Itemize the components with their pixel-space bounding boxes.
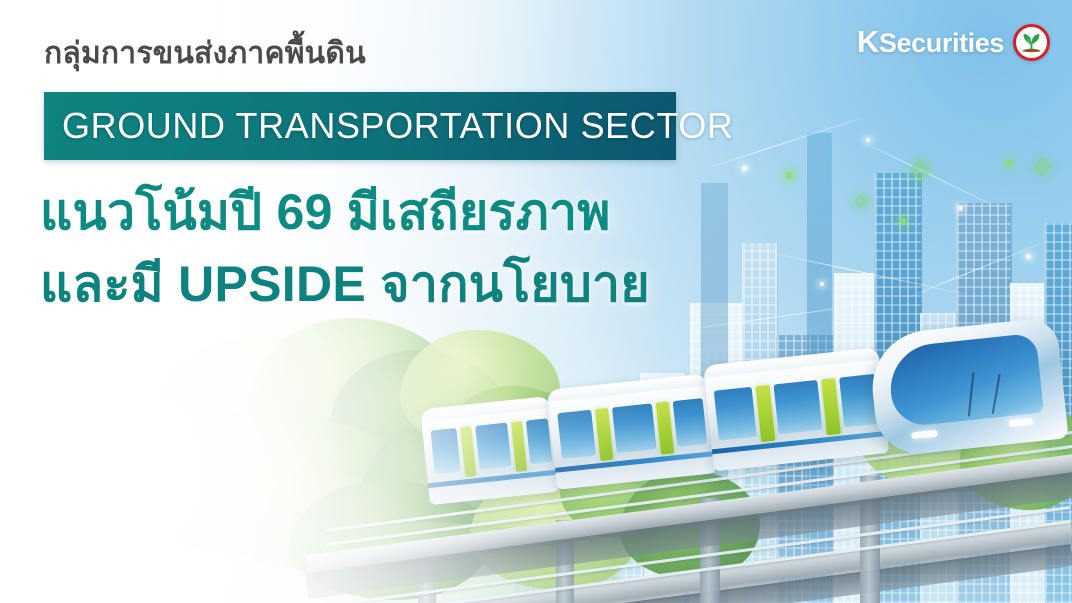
logo-word-rest: Securities — [879, 28, 1004, 58]
main-headline: แนวโน้มปี 69 มีเสถียรภาพ และมี UPSIDE จา… — [40, 176, 740, 320]
promo-banner: กลุ่มการขนส่งภาคพื้นดิน GROUND TRANSPORT… — [0, 0, 1072, 603]
train-nose — [867, 317, 1069, 458]
kicker-thai: กลุ่มการขนส่งภาคพื้นดิน — [44, 34, 704, 74]
ksecurities-logo: KSecurities — [857, 24, 1050, 61]
sector-label: GROUND TRANSPORTATION SECTOR — [44, 107, 734, 145]
seedling-icon — [1013, 24, 1050, 61]
headline-text-block: กลุ่มการขนส่งภาคพื้นดิน — [44, 34, 704, 74]
sector-banner: GROUND TRANSPORTATION SECTOR — [44, 92, 676, 160]
logo-wordmark: KSecurities — [857, 27, 1004, 58]
train-car — [547, 374, 717, 490]
headline-line-2: และมี UPSIDE จากนโยบาย — [40, 248, 740, 320]
headline-line-1: แนวโน้มปี 69 มีเสถียรภาพ — [40, 176, 740, 248]
train-car — [703, 347, 889, 471]
train-car — [420, 396, 559, 505]
logo-letter-k: K — [857, 24, 879, 59]
sky-train — [416, 301, 1070, 537]
